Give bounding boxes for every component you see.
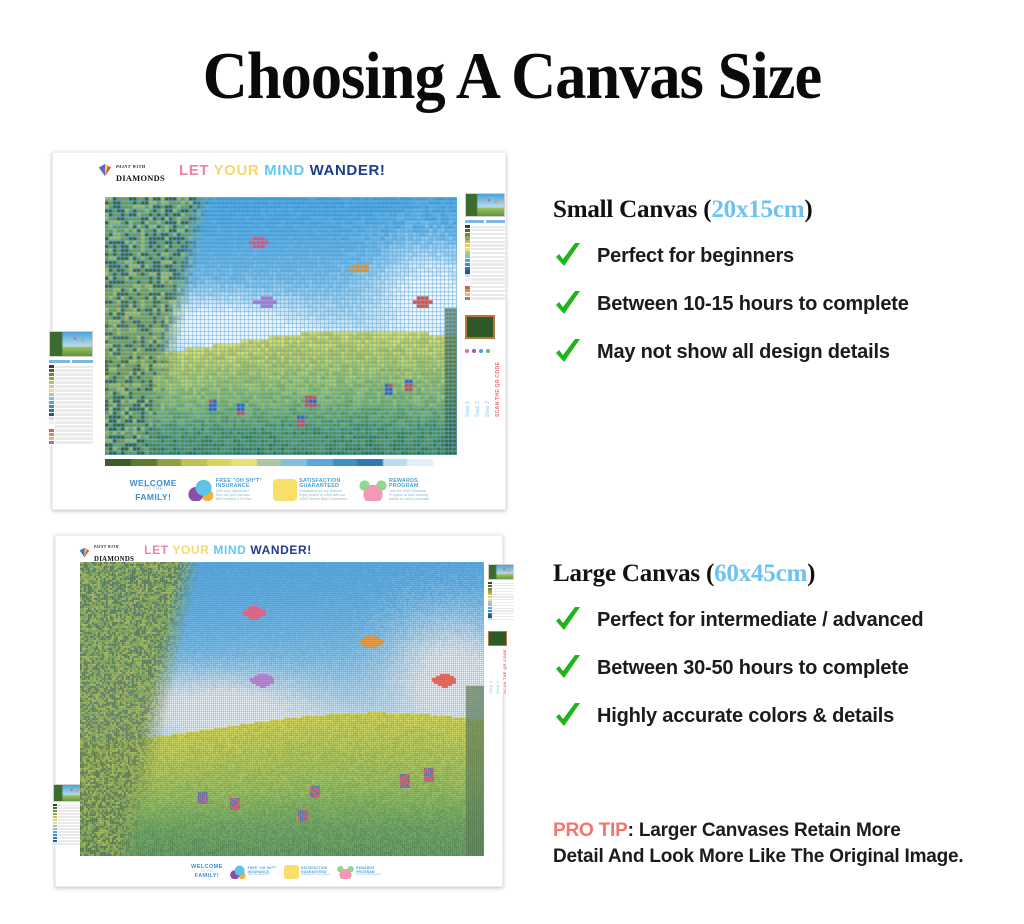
legend-row bbox=[49, 405, 93, 408]
brand-wordmark-large: PAINT WITH DIAMONDS bbox=[94, 537, 134, 563]
badge-satisfaction-sub: Unsatisfied for any reason? bbox=[301, 874, 330, 877]
legend-code-text bbox=[55, 413, 93, 415]
badge-satisfaction-small: SATISFACTION GUARANTEED Unsatisfied for … bbox=[273, 479, 348, 502]
legend-color-swatch bbox=[465, 248, 470, 251]
legend-row bbox=[49, 377, 93, 380]
tagline-word-3: MIND bbox=[213, 543, 246, 557]
legend-color-swatch bbox=[465, 289, 470, 292]
qr-code-note-large: SCAN THE QR CODE bbox=[502, 650, 507, 694]
happy-canvas-icon bbox=[273, 479, 297, 501]
legend-step-1-label: Step 1 bbox=[488, 650, 493, 694]
heading-dimensions: 60x45cm bbox=[714, 560, 807, 587]
legend-code-text bbox=[471, 252, 505, 254]
legend-code-text bbox=[55, 389, 93, 391]
legend-row bbox=[49, 437, 93, 440]
legend-row bbox=[465, 236, 505, 239]
bullet-text: Between 10-15 hours to complete bbox=[597, 293, 909, 316]
legend-row bbox=[465, 270, 505, 273]
legend-color-swatch bbox=[465, 225, 470, 228]
legend-color-swatch bbox=[465, 255, 470, 258]
legend-code-text bbox=[55, 433, 93, 435]
legend-code-text bbox=[55, 441, 93, 443]
legend-row bbox=[488, 618, 514, 620]
badge-rewards-sub: Join the PWD Rewards bbox=[356, 874, 381, 877]
large-canvas-product-image: PAINT WITH DIAMONDS LET YOUR MIND WANDER… bbox=[55, 535, 503, 887]
qr-code-note-small: SCAN THE QR CODE bbox=[495, 357, 501, 417]
paint-splash-icon bbox=[230, 865, 246, 879]
legend-code-text bbox=[55, 421, 93, 423]
right-color-legend-small: Step 1 Step 2 Step 3 SCAN THE QR CODE bbox=[465, 193, 505, 417]
legend-row bbox=[49, 397, 93, 400]
framed-picture-icon bbox=[465, 315, 495, 339]
legend-code-text bbox=[55, 417, 93, 419]
tagline-word-4: WANDER! bbox=[250, 543, 312, 557]
legend-code-text bbox=[471, 286, 505, 288]
legend-row bbox=[49, 417, 93, 420]
legend-step-1-label: Step 1 bbox=[465, 357, 471, 417]
small-canvas-bullets: Perfect for beginners Between 10-15 hour… bbox=[553, 240, 909, 368]
legend-row bbox=[465, 248, 505, 251]
legend-color-swatch bbox=[49, 369, 54, 372]
legend-code-text bbox=[471, 290, 505, 292]
legend-color-swatch bbox=[465, 263, 470, 266]
tagline-word-2: YOUR bbox=[214, 162, 260, 179]
legend-row bbox=[465, 286, 505, 289]
large-canvas-bullets: Perfect for intermediate / advanced Betw… bbox=[553, 604, 923, 732]
legend-step-3-label: Step 3 bbox=[485, 357, 491, 417]
legend-rows-right bbox=[488, 582, 514, 621]
legend-color-swatch bbox=[465, 244, 470, 247]
legend-row bbox=[465, 289, 505, 292]
checkmark-icon bbox=[553, 288, 583, 320]
legend-color-swatch bbox=[465, 286, 470, 289]
legend-code-text bbox=[55, 369, 93, 371]
checkmark-icon bbox=[553, 240, 583, 272]
legend-row bbox=[465, 229, 505, 232]
legend-color-swatch bbox=[49, 425, 54, 428]
legend-code-text bbox=[55, 385, 93, 387]
legend-code-text bbox=[55, 425, 93, 427]
list-item: Perfect for beginners bbox=[553, 240, 909, 272]
brand-line1: PAINT WITH bbox=[94, 545, 119, 549]
list-item: Between 30-50 hours to complete bbox=[553, 652, 923, 684]
legend-row bbox=[465, 255, 505, 258]
legend-code-text bbox=[493, 591, 514, 592]
legend-row bbox=[465, 225, 505, 228]
mosaic-artwork-large bbox=[80, 562, 484, 856]
mosaic-artwork-small bbox=[105, 197, 457, 455]
legend-code-text bbox=[55, 381, 93, 383]
legend-color-swatch bbox=[49, 413, 54, 416]
panel-footer-small: WELCOME TO THE FAMILY! FREE "OH SH*T" IN… bbox=[97, 473, 463, 507]
legend-color-swatch bbox=[49, 381, 54, 384]
legend-header-left bbox=[49, 360, 93, 363]
legend-color-swatch bbox=[488, 618, 492, 620]
panel-header-large: PAINT WITH DIAMONDS LET YOUR MIND WANDER… bbox=[78, 541, 378, 559]
legend-row bbox=[49, 369, 93, 372]
legend-code-text bbox=[493, 616, 514, 617]
pro-tip-line1: : Larger Canvases Retain More bbox=[628, 820, 901, 841]
right-color-legend-large: Step 1 Step 2 SCAN THE QR CODE bbox=[488, 564, 514, 694]
bullet-text: Between 30-50 hours to complete bbox=[597, 657, 909, 680]
legend-row bbox=[465, 297, 505, 300]
legend-row bbox=[465, 293, 505, 296]
pro-tip-note: PRO TIP: Larger Canvases Retain More Det… bbox=[553, 818, 963, 869]
rewards-piggy-icon bbox=[359, 479, 387, 501]
legend-code-text bbox=[493, 585, 514, 586]
tagline-word-1: LET bbox=[144, 543, 168, 557]
legend-color-swatch bbox=[49, 393, 54, 396]
legend-step-2-label: Step 2 bbox=[495, 650, 500, 694]
list-item: May not show all design details bbox=[553, 336, 909, 368]
legend-code-text bbox=[55, 366, 93, 368]
legend-row bbox=[465, 282, 505, 285]
legend-code-text bbox=[55, 401, 93, 403]
left-color-legend-small bbox=[49, 331, 93, 445]
badge-insurance-sub: Spill your diamonds? Run out your canvas… bbox=[216, 490, 262, 501]
legend-code-text bbox=[471, 294, 505, 296]
badge-welcome-sub: FAMILY! bbox=[135, 493, 171, 502]
pro-tip-line2: Detail And Look More Like The Original I… bbox=[553, 846, 963, 867]
legend-color-swatch bbox=[465, 297, 470, 300]
rewards-piggy-icon bbox=[337, 865, 354, 879]
legend-code-text bbox=[471, 248, 505, 250]
heading-close: ) bbox=[807, 560, 815, 587]
tagline-word-3: MIND bbox=[264, 162, 305, 179]
legend-row bbox=[49, 433, 93, 436]
artwork-thumbnail-left bbox=[49, 331, 93, 357]
legend-code-text bbox=[493, 610, 514, 611]
legend-color-swatch bbox=[465, 259, 470, 262]
legend-row bbox=[49, 429, 93, 432]
legend-code-text bbox=[471, 241, 505, 243]
tagline-word-2: YOUR bbox=[172, 543, 209, 557]
large-canvas-heading: Large Canvas (60x45cm) bbox=[553, 560, 923, 588]
legend-header-right bbox=[465, 220, 505, 223]
legend-code-text bbox=[55, 397, 93, 399]
legend-color-swatch bbox=[465, 282, 470, 285]
legend-color-swatch bbox=[465, 233, 470, 236]
legend-color-swatch bbox=[49, 405, 54, 408]
bullet-text: Perfect for beginners bbox=[597, 245, 794, 268]
badge-insurance-small: FREE "OH SH*T" INSURANCE Spill your diam… bbox=[188, 479, 262, 502]
legend-row bbox=[49, 413, 93, 416]
legend-row bbox=[49, 389, 93, 392]
legend-code-text bbox=[493, 613, 514, 614]
badge-insurance-sub: Spill your diamonds? bbox=[248, 874, 277, 877]
panel-footer-large: WELCOME TO THE FAMILY! FREE "OH SH*T" IN… bbox=[166, 862, 406, 882]
legend-color-swatch bbox=[53, 843, 57, 845]
legend-color-swatch bbox=[465, 274, 470, 277]
brand-line2: DIAMONDS bbox=[116, 174, 165, 183]
legend-code-text bbox=[471, 237, 505, 239]
legend-color-swatch bbox=[465, 229, 470, 232]
tagline-word-1: LET bbox=[179, 162, 209, 179]
legend-code-text bbox=[55, 373, 93, 375]
legend-color-swatch bbox=[465, 267, 470, 270]
legend-code-text bbox=[493, 583, 514, 584]
badge-welcome-family-large: WELCOME TO THE FAMILY! bbox=[191, 865, 223, 880]
legend-row bbox=[49, 381, 93, 384]
legend-row bbox=[465, 278, 505, 281]
legend-color-swatch bbox=[465, 240, 470, 243]
legend-row bbox=[465, 244, 505, 247]
brand-logo-large: PAINT WITH DIAMONDS bbox=[78, 537, 134, 563]
legend-row bbox=[49, 441, 93, 444]
legend-code-text bbox=[471, 233, 505, 235]
bullet-text: Perfect for intermediate / advanced bbox=[597, 609, 923, 632]
legend-color-swatch bbox=[49, 421, 54, 424]
checkmark-icon bbox=[553, 652, 583, 684]
heading-label: Small Canvas ( bbox=[553, 196, 711, 223]
artwork-thumbnail-right bbox=[488, 564, 514, 580]
legend-code-text bbox=[471, 260, 505, 262]
tagline-large: LET YOUR MIND WANDER! bbox=[144, 543, 312, 557]
legend-code-text bbox=[471, 278, 505, 280]
legend-code-text bbox=[471, 263, 505, 265]
small-canvas-heading: Small Canvas (20x15cm) bbox=[553, 196, 909, 224]
badge-rewards-small: REWARDS PROGRAM Join the PWD Rewards Pro… bbox=[359, 479, 430, 502]
legend-color-swatch bbox=[49, 365, 54, 368]
brand-wordmark-small: PAINT WITH DIAMONDS bbox=[116, 157, 165, 183]
legend-row bbox=[49, 401, 93, 404]
framed-picture-icon bbox=[488, 631, 507, 646]
tagline-small: LET YOUR MIND WANDER! bbox=[179, 162, 386, 179]
badge-welcome-sub: FAMILY! bbox=[195, 874, 219, 880]
legend-color-swatch bbox=[49, 429, 54, 432]
badge-rewards-sub: Join the PWD Rewards Program to start ea… bbox=[389, 490, 430, 501]
legend-color-swatch bbox=[465, 270, 470, 273]
left-color-legend-large bbox=[53, 784, 83, 846]
legend-code-text bbox=[493, 594, 514, 595]
legend-row bbox=[49, 409, 93, 412]
small-canvas-section: Small Canvas (20x15cm) Perfect for begin… bbox=[553, 196, 909, 368]
legend-row bbox=[465, 259, 505, 262]
legend-code-text bbox=[471, 275, 505, 277]
legend-color-swatch bbox=[49, 373, 54, 376]
legend-row bbox=[49, 365, 93, 368]
brand-line1: PAINT WITH bbox=[116, 164, 146, 169]
diamond-gem-icon bbox=[97, 163, 113, 177]
legend-row bbox=[49, 393, 93, 396]
panel-header-small: PAINT WITH DIAMONDS LET YOUR MIND WANDER… bbox=[97, 159, 457, 181]
legend-color-swatch bbox=[49, 397, 54, 400]
legend-code-text bbox=[55, 377, 93, 379]
legend-code-text bbox=[55, 405, 93, 407]
legend-color-swatch bbox=[465, 293, 470, 296]
bullet-text: Highly accurate colors & details bbox=[597, 705, 894, 728]
checkmark-icon bbox=[553, 700, 583, 732]
legend-code-text bbox=[471, 226, 505, 228]
happy-canvas-icon bbox=[284, 865, 299, 879]
legend-code-text bbox=[55, 429, 93, 431]
legend-row bbox=[49, 425, 93, 428]
legend-color-swatch bbox=[49, 389, 54, 392]
legend-color-swatch bbox=[49, 377, 54, 380]
artwork-thumbnail-right bbox=[465, 193, 505, 217]
legend-code-text bbox=[471, 282, 505, 284]
legend-row bbox=[53, 843, 83, 845]
bullet-text: May not show all design details bbox=[597, 341, 890, 364]
tagline-word-4: WANDER! bbox=[310, 162, 386, 179]
legend-color-swatch bbox=[49, 385, 54, 388]
legend-row bbox=[465, 263, 505, 266]
legend-row bbox=[465, 240, 505, 243]
color-strip-small bbox=[105, 459, 457, 466]
legend-step-2-label: Step 2 bbox=[475, 357, 481, 417]
badge-satisfaction-sub: Unsatisfied for any reason? Enjoy peace … bbox=[299, 490, 348, 501]
legend-row bbox=[49, 385, 93, 388]
legend-row bbox=[465, 267, 505, 270]
legend-row bbox=[49, 421, 93, 424]
legend-code-text bbox=[55, 393, 93, 395]
legend-code-text bbox=[493, 599, 514, 600]
badge-rewards-large: REWARDS PROGRAM Join the PWD Rewards bbox=[337, 865, 381, 879]
legend-row bbox=[465, 251, 505, 254]
badge-insurance-large: FREE "OH SH*T" INSURANCE Spill your diam… bbox=[230, 865, 277, 879]
small-canvas-product-image: PAINT WITH DIAMONDS LET YOUR MIND WANDER… bbox=[52, 152, 506, 510]
large-canvas-section: Large Canvas (60x45cm) Perfect for inter… bbox=[553, 560, 923, 732]
legend-color-swatch bbox=[49, 437, 54, 440]
heading-label: Large Canvas ( bbox=[553, 560, 714, 587]
page-title: Choosing A Canvas Size bbox=[36, 38, 988, 115]
legend-code-text bbox=[471, 297, 505, 299]
legend-rows-right bbox=[465, 225, 505, 301]
legend-code-text bbox=[471, 244, 505, 246]
legend-row bbox=[49, 373, 93, 376]
legend-code-text bbox=[471, 267, 505, 269]
legend-rows-left bbox=[53, 804, 83, 846]
legend-row bbox=[465, 233, 505, 236]
legend-code-text bbox=[55, 437, 93, 439]
pro-tip-label: PRO TIP bbox=[553, 820, 628, 841]
legend-code-text bbox=[493, 605, 514, 606]
brand-logo-small: PAINT WITH DIAMONDS bbox=[97, 157, 165, 183]
badge-satisfaction-large: SATISFACTION GUARANTEED Unsatisfied for … bbox=[284, 865, 330, 879]
list-item: Between 10-15 hours to complete bbox=[553, 288, 909, 320]
heading-close: ) bbox=[804, 196, 812, 223]
legend-color-swatch bbox=[49, 409, 54, 412]
legend-color-swatch bbox=[465, 278, 470, 281]
legend-color-swatch bbox=[49, 417, 54, 420]
legend-code-text bbox=[493, 619, 514, 620]
artwork-thumbnail-left bbox=[53, 784, 83, 802]
legend-code-text bbox=[493, 602, 514, 603]
legend-row bbox=[465, 274, 505, 277]
list-item: Highly accurate colors & details bbox=[553, 700, 923, 732]
instruction-dots-right bbox=[465, 349, 505, 353]
legend-color-swatch bbox=[49, 441, 54, 444]
legend-code-text bbox=[493, 608, 514, 609]
legend-color-swatch bbox=[465, 236, 470, 239]
legend-rows-left bbox=[49, 365, 93, 445]
legend-code-text bbox=[55, 409, 93, 411]
checkmark-icon bbox=[553, 336, 583, 368]
legend-color-swatch bbox=[49, 433, 54, 436]
list-item: Perfect for intermediate / advanced bbox=[553, 604, 923, 636]
legend-code-text bbox=[471, 229, 505, 231]
legend-code-text bbox=[493, 596, 514, 597]
diamond-gem-icon bbox=[78, 545, 91, 556]
legend-code-text bbox=[471, 256, 505, 258]
badge-welcome-family-small: WELCOME TO THE FAMILY! bbox=[130, 479, 177, 502]
paint-splash-icon bbox=[188, 479, 214, 501]
legend-code-text bbox=[493, 588, 514, 589]
legend-code-text bbox=[471, 271, 505, 273]
heading-dimensions: 20x15cm bbox=[711, 196, 804, 223]
checkmark-icon bbox=[553, 604, 583, 636]
legend-color-swatch bbox=[49, 401, 54, 404]
legend-color-swatch bbox=[465, 251, 470, 254]
